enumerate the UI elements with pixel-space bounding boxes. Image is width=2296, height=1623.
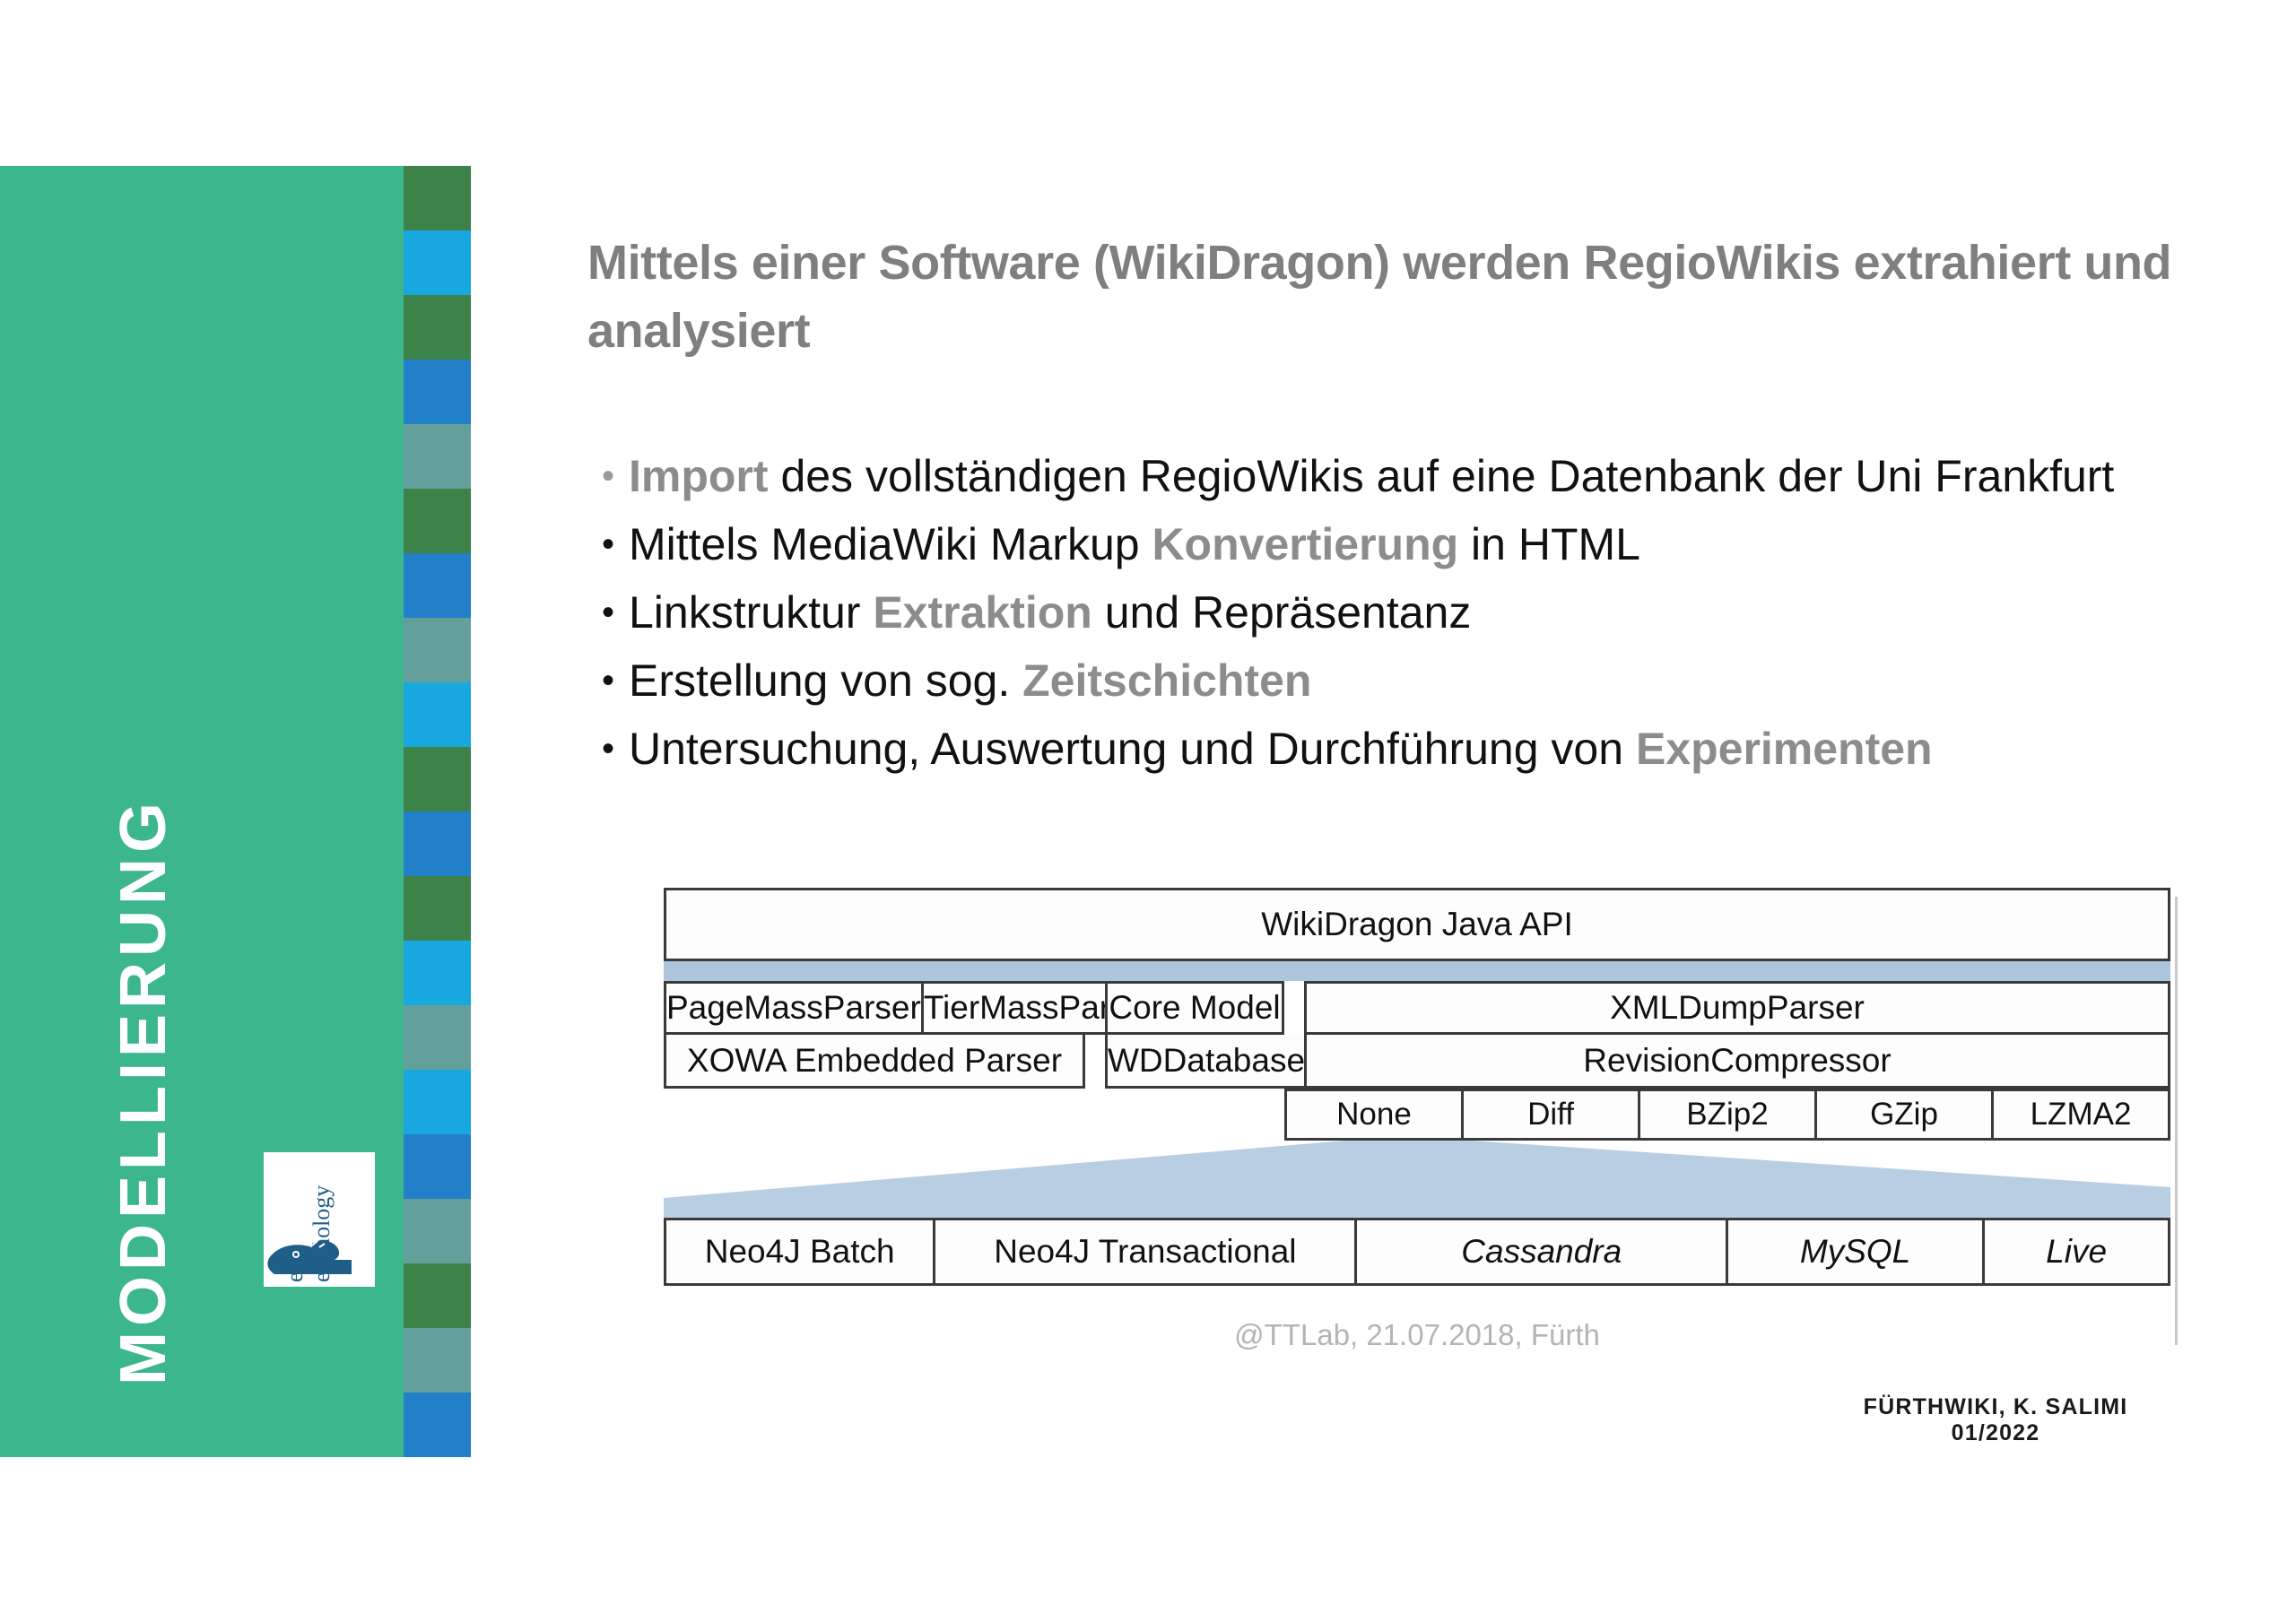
diagram-parser-group: PageMassParser TierMassParser XOWA Embed…	[664, 981, 1085, 1089]
diagram-storage-live: Live	[1985, 1218, 2170, 1286]
diagram-xml-group: XMLDumpParser RevisionCompressor	[1304, 981, 2170, 1089]
bullet-marker-icon: •	[587, 580, 629, 645]
diagram-caption: @TTLab, 21.07.2018, Fürth	[664, 1318, 2170, 1352]
sidebar-stripe-17	[404, 1263, 471, 1328]
sidebar-stripe-16	[404, 1199, 471, 1263]
sidebar-stripe-8	[404, 682, 471, 747]
diagram-codec-gzip: GZip	[1817, 1089, 1994, 1141]
diagram-storage-cassandra: Cassandra	[1357, 1218, 1728, 1286]
bullet-marker-icon: •	[587, 648, 629, 713]
sidebar-stripe-0	[404, 166, 471, 230]
diagram-core-group: Core Model WDDatabase	[1105, 981, 1284, 1089]
diagram-storage-row: Neo4J BatchNeo4J TransactionalCassandraM…	[664, 1218, 2170, 1286]
sidebar-stripe-12	[404, 941, 471, 1005]
diagram-box-pagemassparser: PageMassParser	[664, 981, 924, 1035]
footer-credit: FÜRTHWIKI, K. SALIMI 01/2022	[1816, 1394, 2175, 1446]
diagram-xml-top-row: XMLDumpParser	[1304, 981, 2170, 1035]
diagram-codec-none: None	[1284, 1089, 1464, 1141]
diagram-xml-bottom-row: RevisionCompressor	[1304, 1035, 2170, 1089]
bullet-item: •Mittels MediaWiki Markup Konvertierung …	[587, 512, 2202, 577]
bullet-keyword: Import	[629, 451, 769, 501]
diagram-box-xowa-embedded-parser: XOWA Embedded Parser	[664, 1035, 1085, 1089]
sidebar-stripe-15	[404, 1134, 471, 1199]
sidebar-stripe-19	[404, 1393, 471, 1457]
bullet-text: Mittels MediaWiki Markup Konvertierung i…	[629, 512, 2202, 577]
sidebar-stripe-14	[404, 1070, 471, 1134]
diagram-box-xmldumpparser: XMLDumpParser	[1304, 981, 2170, 1035]
bullet-text: Linkstruktur Extraktion und Repräsentanz	[629, 580, 2202, 645]
diagram-box-revisioncompressor: RevisionCompressor	[1304, 1035, 2170, 1089]
diagram-core-bottom-row: WDDatabase	[1105, 1035, 1284, 1089]
sidebar-stripe-5	[404, 489, 471, 553]
sidebar-stripe-6	[404, 553, 471, 618]
sidebar: MODELLIERUNG ext echnology	[0, 166, 471, 1457]
diagram-gap-left	[1085, 981, 1105, 1089]
diagram-box-core-model: Core Model	[1105, 981, 1284, 1035]
diagram-parser-bottom-row: XOWA Embedded Parser	[664, 1035, 1085, 1089]
sidebar-stripe-4	[404, 424, 471, 489]
sidebar-color-stripes	[404, 166, 471, 1457]
sidebar-stripe-10	[404, 811, 471, 876]
diagram-middle-row: PageMassParser TierMassParser XOWA Embed…	[664, 981, 2170, 1089]
diagram-right-divider	[2175, 897, 2178, 1345]
sidebar-stripe-1	[404, 230, 471, 295]
architecture-diagram: WikiDragon Java API PageMassParser TierM…	[664, 888, 2170, 1352]
bullet-keyword: Zeitschichten	[1022, 655, 1311, 706]
bullet-text: Erstellung von sog. Zeitschichten	[629, 648, 2202, 713]
slide-content: Mittels einer Software (WikiDragon) werd…	[587, 0, 2229, 1623]
diagram-box-wddatabase: WDDatabase	[1105, 1035, 1308, 1089]
diagram-storage-mysql: MySQL	[1728, 1218, 1985, 1286]
sidebar-stripe-13	[404, 1005, 471, 1070]
bullet-marker-icon: •	[587, 444, 629, 508]
sidebar-stripe-2	[404, 295, 471, 360]
sidebar-stripe-3	[404, 360, 471, 424]
bullet-item: •Import des vollständigen RegioWikis auf…	[587, 444, 2202, 508]
bullet-text: Untersuchung, Auswertung und Durchführun…	[629, 716, 2202, 781]
bullet-marker-icon: •	[587, 716, 629, 781]
bullet-item: •Untersuchung, Auswertung und Durchführu…	[587, 716, 2202, 781]
sidebar-stripe-7	[404, 618, 471, 682]
bullet-keyword: Experimenten	[1636, 724, 1933, 774]
sidebar-stripe-11	[404, 876, 471, 941]
bullet-marker-icon: •	[587, 512, 629, 577]
diagram-wedge-connector	[664, 1141, 2170, 1218]
diagram-api-layer: WikiDragon Java API	[664, 888, 2170, 961]
diagram-codec-row: NoneDiffBZip2GZipLZMA2	[1284, 1089, 2170, 1141]
bullet-item: •Linkstruktur Extraktion und Repräsentan…	[587, 580, 2202, 645]
text-technology-logo: ext echnology	[264, 1152, 375, 1287]
diagram-core-top-row: Core Model	[1105, 981, 1284, 1035]
diagram-codec-lzma2: LZMA2	[1994, 1089, 2170, 1141]
bullet-list: •Import des vollständigen RegioWikis auf…	[587, 444, 2202, 785]
diagram-storage-neo4j-transactional: Neo4J Transactional	[935, 1218, 1357, 1286]
diagram-gap-right	[1284, 981, 1304, 1089]
diagram-codec-bzip2: BZip2	[1640, 1089, 1817, 1141]
bullet-keyword: Extraktion	[873, 587, 1092, 638]
bullet-text: Import des vollständigen RegioWikis auf …	[629, 444, 2202, 508]
bullet-keyword: Konvertierung	[1152, 519, 1458, 569]
diagram-storage-neo4j-batch: Neo4J Batch	[664, 1218, 935, 1286]
sidebar-stripe-18	[404, 1328, 471, 1393]
diagram-codec-diff: Diff	[1464, 1089, 1640, 1141]
diagram-connector-band	[664, 961, 2170, 981]
sidebar-stripe-9	[404, 747, 471, 811]
diagram-parser-top-row: PageMassParser TierMassParser	[664, 981, 1085, 1035]
slide-title: Mittels einer Software (WikiDragon) werd…	[587, 229, 2193, 365]
bullet-item: •Erstellung von sog. Zeitschichten	[587, 648, 2202, 713]
